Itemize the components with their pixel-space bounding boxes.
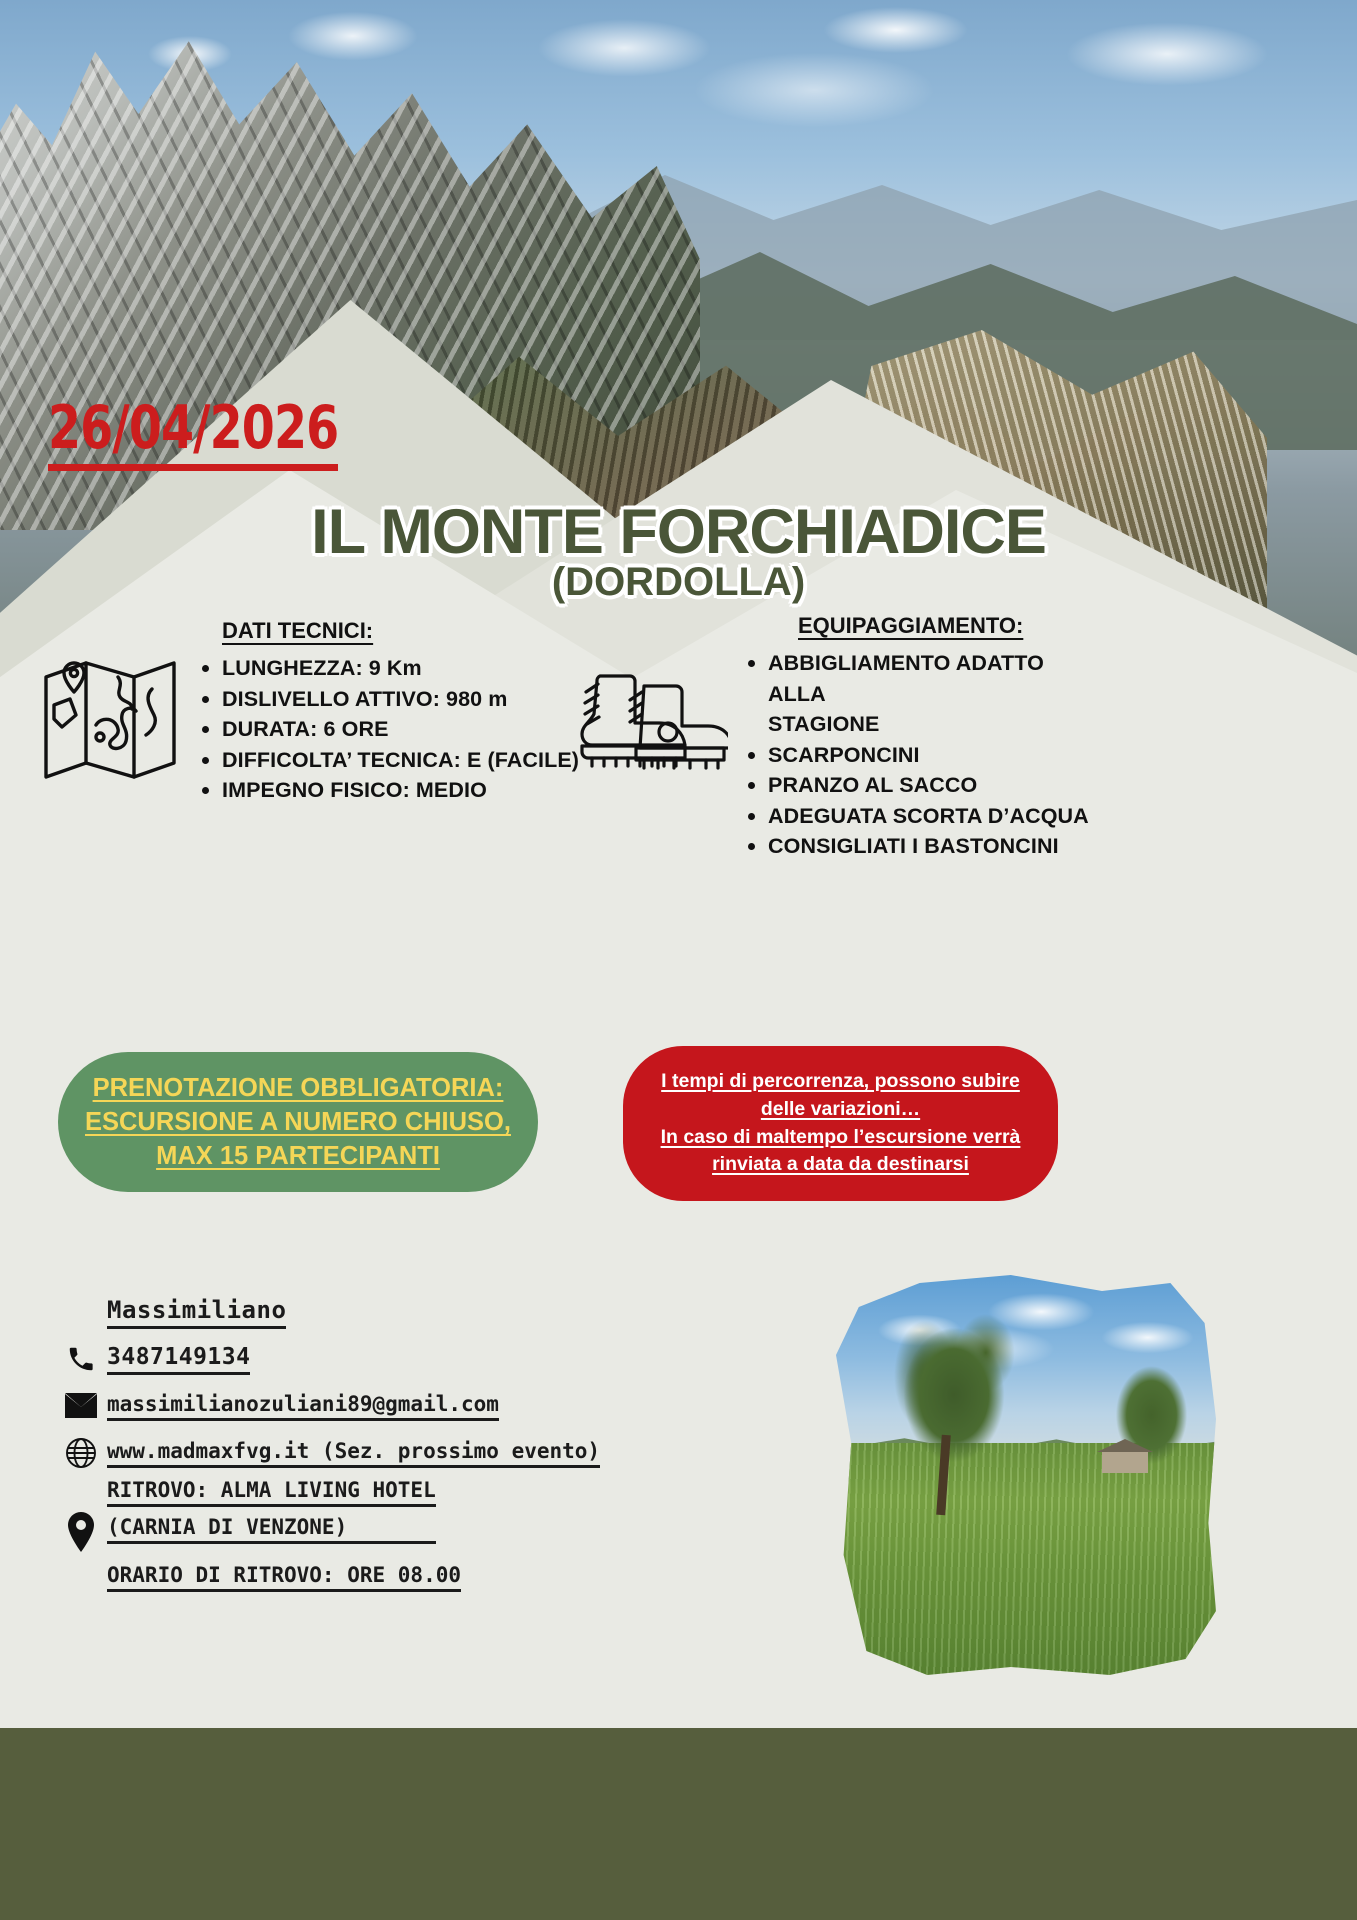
contacts-block: Massimiliano 3487149134 massimilianozuli… [55,1290,715,1602]
envelope-icon [55,1392,107,1420]
warning-line-1: I tempi di percorrenza, possono subire [661,1068,1020,1096]
contact-phone: 3487149134 [107,1344,250,1375]
list-item: IMPEGNO FISICO: MEDIO [196,775,616,806]
contact-name: Massimiliano [107,1296,286,1329]
meeting-lines: RITROVO: ALMA LIVING HOTEL (CARNIA DI VE… [107,1478,436,1544]
meeting-point-line-1: RITROVO: ALMA LIVING HOTEL [107,1478,436,1507]
poster: 26/04/2026 IL MONTE FORCHIADICE (DORDOLL… [0,0,1357,1920]
equipment-list: ABBIGLIAMENTO ADATTO ALLA STAGIONE SCARP… [742,648,1102,862]
list-item: SCARPONCINI [742,740,1102,771]
equipment-heading: EQUIPAGGIAMENTO: [798,613,1023,638]
page-title: IL MONTE FORCHIADICE [0,496,1357,568]
contact-row-phone[interactable]: 3487149134 [55,1337,715,1381]
meadow-tree [882,1299,1026,1491]
list-item-continuation: STAGIONE [742,709,1102,740]
contact-row-meeting-point: RITROVO: ALMA LIVING HOTEL (CARNIA DI VE… [55,1478,715,1552]
meadow-photo [836,1275,1216,1675]
technical-data-heading: DATI TECNICI: [222,618,373,643]
booking-line-2: ESCURSIONE A NUMERO CHIUSO, [85,1105,511,1139]
contact-email: massimilianozuliani89@gmail.com [107,1392,499,1421]
map-pin-icon [55,1512,107,1552]
warning-line-3: In caso di maltempo l’escursione verrà [661,1124,1021,1152]
hiking-boots-icon [578,662,728,787]
event-date: 26/04/2026 [48,398,338,458]
list-item: PRANZO AL SACCO [742,770,1102,801]
contact-row-meeting-time: ORARIO DI RITROVO: ORE 08.00 [55,1555,715,1599]
warning-line-2: delle variazioni… [761,1096,920,1124]
phone-icon [55,1344,107,1374]
contact-website: www.madmaxfvg.it (Sez. prossimo evento) [107,1439,600,1468]
event-date-block: 26/04/2026 [48,398,378,471]
page-subtitle: (DORDOLLA) [0,560,1357,605]
list-item: CONSIGLIATI I BASTONCINI [742,831,1102,862]
meadow-hut [1102,1451,1148,1473]
contact-row-email[interactable]: massimilianozuliani89@gmail.com [55,1384,715,1428]
globe-icon [55,1437,107,1469]
booking-required-box: PRENOTAZIONE OBBLIGATORIA: ESCURSIONE A … [58,1052,538,1192]
footer-logos: GUIDA ASSOCIATA Aigae Associazione Itali… [0,1728,1357,1920]
booking-line-1: PRENOTAZIONE OBBLIGATORIA: [93,1071,504,1105]
warning-line-4: rinviata a data da destinarsi [712,1151,969,1179]
list-item: ADEGUATA SCORTA D’ACQUA [742,801,1102,832]
contact-row-website[interactable]: www.madmaxfvg.it (Sez. prossimo evento) [55,1431,715,1475]
event-date-underline [48,464,338,471]
list-item: DISLIVELLO ATTIVO: 980 m [196,684,616,715]
weather-warning-box: I tempi di percorrenza, possono subire d… [623,1046,1058,1201]
technical-data-heading-wrap: DATI TECNICI: [222,618,373,644]
meeting-time: ORARIO DI RITROVO: ORE 08.00 [107,1563,461,1592]
booking-line-3: MAX 15 PARTECIPANTI [156,1139,440,1173]
list-item: DIFFICOLTA’ TECNICA: E (FACILE) [196,745,616,776]
technical-data-list: LUNGHEZZA: 9 Km DISLIVELLO ATTIVO: 980 m… [196,653,616,806]
list-item: DURATA: 6 ORE [196,714,616,745]
list-item: LUNGHEZZA: 9 Km [196,653,616,684]
list-item: ABBIGLIAMENTO ADATTO ALLA [742,648,1102,709]
equipment-heading-wrap: EQUIPAGGIAMENTO: [798,613,1023,639]
meeting-point-line-2: (CARNIA DI VENZONE) [107,1515,436,1544]
contact-row-name: Massimiliano [55,1290,715,1334]
folded-map-icon [40,655,180,790]
